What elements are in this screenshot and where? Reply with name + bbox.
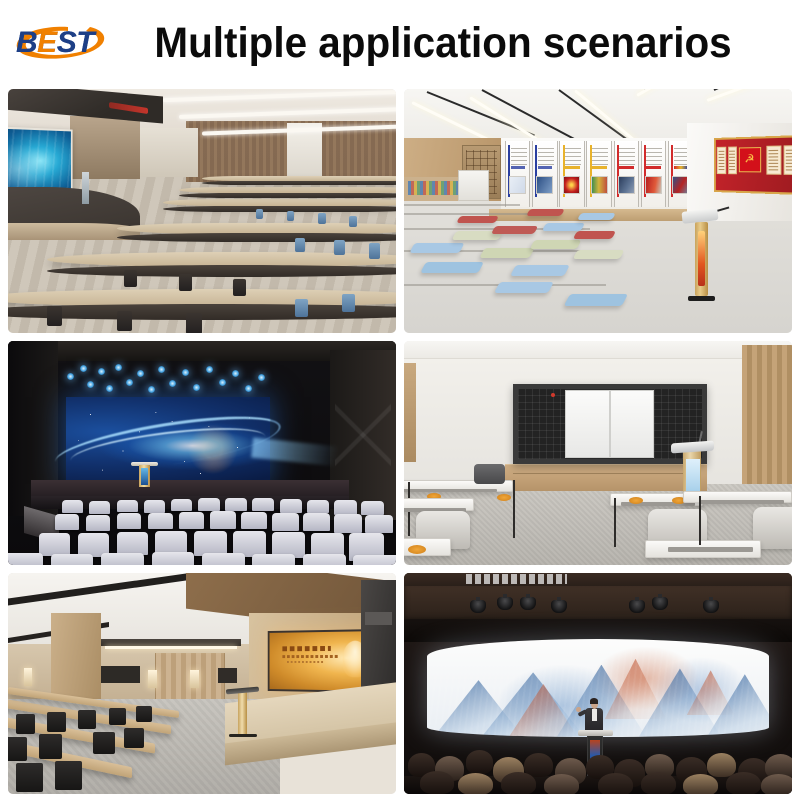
- seat: [47, 306, 62, 326]
- seat: [117, 513, 142, 529]
- seat: [272, 513, 299, 531]
- desk-edge: [699, 500, 784, 504]
- chair: [55, 761, 82, 790]
- panel-rail: [365, 612, 392, 625]
- seat: [8, 553, 43, 565]
- page-title: Multiple application scenarios: [138, 20, 779, 66]
- seat: [369, 243, 380, 259]
- banner-header: BEST Multiple application scenarios: [0, 0, 800, 86]
- seat: [124, 270, 137, 287]
- seat: [55, 514, 80, 530]
- chair: [16, 714, 35, 734]
- scenario-panel-keynote-photo[interactable]: [404, 573, 792, 794]
- seat: [179, 274, 192, 291]
- seat: [210, 511, 236, 528]
- seat: [252, 554, 295, 565]
- seat: [101, 553, 144, 565]
- seat: [334, 240, 345, 255]
- seat: [225, 498, 247, 511]
- ceiling: [404, 341, 792, 359]
- podium: [82, 172, 90, 204]
- floor-mat: [577, 213, 616, 220]
- chair: [8, 737, 27, 761]
- desk-leg: [513, 480, 515, 538]
- panel-photo: [645, 176, 662, 194]
- seat: [179, 512, 205, 529]
- audience-head: [598, 773, 633, 794]
- red-exhibition-wall: [714, 135, 792, 195]
- display-panel: [559, 141, 585, 207]
- wall-sconce: [24, 668, 33, 686]
- lectern-base: [229, 734, 257, 737]
- exhibition-document: [784, 144, 792, 175]
- chair: [93, 732, 115, 754]
- desk-row-front: [202, 181, 396, 185]
- seat: [295, 238, 305, 252]
- best-logo: BEST: [6, 14, 118, 72]
- seat: [117, 532, 148, 555]
- desk-row-front: [117, 233, 396, 242]
- desk-row-front: [47, 265, 396, 277]
- cove-light-strip: [105, 646, 237, 650]
- seat: [233, 279, 246, 296]
- audience-head: [501, 772, 536, 794]
- seat: [186, 313, 202, 333]
- display-panel: [505, 141, 531, 207]
- floor-mat: [420, 262, 484, 273]
- floor-mat: [564, 294, 628, 306]
- audience: [404, 741, 792, 794]
- panel-text-lines: [511, 147, 527, 164]
- seat: [202, 553, 245, 565]
- speaker-hair: [590, 698, 598, 704]
- seat: [171, 499, 192, 511]
- seat: [144, 500, 165, 513]
- dark-band: [404, 619, 792, 641]
- led-video-wall: [66, 397, 270, 484]
- panel-text-lines: [619, 147, 635, 164]
- audience-head: [420, 771, 455, 794]
- seat: [62, 500, 83, 512]
- panel-text-lines: [592, 147, 608, 164]
- audience-head: [683, 774, 718, 794]
- seat: [303, 554, 346, 565]
- exhibition-document: [718, 146, 727, 174]
- wall-sconce: [190, 670, 199, 688]
- scenario-panel-lecture-hall[interactable]: [8, 89, 396, 333]
- screen-subline: [282, 656, 337, 659]
- spotlight-icon: [629, 600, 645, 613]
- seat: [307, 500, 330, 513]
- panel-text-lines: [565, 147, 581, 164]
- panel-heading: [674, 166, 689, 169]
- keynote-photo-image: [404, 573, 792, 794]
- seat: [152, 552, 195, 565]
- chair: [39, 734, 62, 758]
- whiteboard-left: [565, 390, 609, 458]
- floor-mat: [530, 240, 581, 249]
- lectern-base: [688, 296, 716, 302]
- chair: [78, 710, 96, 729]
- lectern-column: [238, 692, 248, 735]
- spotlight-icon: [551, 600, 567, 613]
- seat: [256, 209, 263, 219]
- panel-text-lines: [646, 147, 662, 164]
- desk-leg: [614, 498, 616, 547]
- classroom-image: [404, 341, 792, 565]
- audience-head: [707, 753, 736, 777]
- chair: [136, 706, 152, 723]
- podium-top: [578, 730, 613, 736]
- seat: [334, 514, 362, 533]
- speaker-hand: [576, 707, 581, 712]
- floor-mat: [573, 231, 616, 239]
- audience-head: [544, 774, 579, 794]
- seat: [287, 211, 294, 221]
- desk-edge: [404, 489, 497, 493]
- desk-leg: [699, 496, 701, 545]
- seat: [361, 501, 384, 515]
- party-flag-icon: [739, 146, 761, 172]
- exhibition-document: [767, 145, 782, 175]
- scenario-panel-classroom[interactable]: [404, 341, 792, 565]
- conference-hall-image: [8, 573, 396, 794]
- floor-mat: [409, 243, 465, 253]
- audience-head: [466, 750, 493, 773]
- seat: [280, 499, 303, 512]
- speaker-shirt: [592, 709, 597, 721]
- desk-row: [179, 187, 396, 193]
- floor-mat: [456, 216, 499, 223]
- audience-head: [761, 774, 792, 794]
- left-wood-wall: [70, 116, 140, 179]
- panel-heading: [619, 166, 634, 169]
- panel-heading: [646, 166, 661, 169]
- scenario-panel-conference-hall[interactable]: [8, 573, 396, 794]
- wall-niche: [218, 668, 237, 683]
- whiteboard-right: [610, 390, 654, 458]
- left-wood-trim: [404, 363, 416, 462]
- promo-banner: BEST Multiple application scenarios: [0, 0, 800, 800]
- activity-room-image: [404, 89, 792, 333]
- screen-headline: [282, 646, 331, 652]
- ceiling-cove: [101, 639, 241, 646]
- lecture-hall-image: [8, 89, 396, 333]
- seat: [252, 498, 274, 511]
- screen-caption: [287, 661, 324, 663]
- seat: [318, 213, 326, 224]
- floor-mat: [491, 226, 538, 234]
- desk-row: [163, 199, 396, 206]
- seat: [334, 500, 357, 514]
- seat: [342, 294, 355, 312]
- seat: [148, 513, 174, 530]
- desk-row-front: [163, 206, 396, 212]
- chair: [124, 728, 143, 748]
- ceiling-soffit: [404, 586, 792, 621]
- status-indicator-dot: [551, 393, 555, 397]
- seat: [194, 531, 227, 556]
- chair: [16, 763, 43, 792]
- chair: [109, 708, 126, 726]
- scenario-panel-activity-room[interactable]: [404, 89, 792, 333]
- seat: [295, 299, 308, 317]
- floor-mat: [542, 223, 585, 231]
- seat: [117, 311, 132, 331]
- seat: [89, 501, 110, 514]
- chair: [47, 712, 66, 732]
- panel-photo: [618, 176, 635, 194]
- panel-photo: [563, 176, 580, 194]
- seat: [365, 515, 393, 534]
- seat: [353, 555, 396, 565]
- display-panel: [532, 141, 558, 207]
- lighting-truss: [58, 361, 275, 399]
- floor-mat: [572, 250, 623, 259]
- spotlight-icon: [703, 600, 719, 613]
- wall-sconce: [148, 670, 157, 688]
- logo-accent-letter: E: [37, 26, 57, 59]
- whiteboard: [458, 170, 489, 202]
- lectern-screen: [698, 231, 705, 287]
- logo-wordmark: BEST: [16, 28, 94, 58]
- theatre-image: [8, 341, 396, 565]
- blackboard-left: [518, 389, 566, 460]
- signage-text: [466, 574, 567, 583]
- panel-heading: [511, 166, 526, 169]
- podium-screen: [141, 468, 148, 485]
- seating-area: [8, 498, 396, 565]
- lectern-top: [671, 440, 714, 453]
- audience-head: [726, 772, 761, 794]
- chair: [474, 464, 505, 484]
- audience-head: [458, 773, 493, 794]
- floor-mat: [526, 209, 565, 216]
- floor-mat: [510, 265, 570, 276]
- panel-heading: [565, 166, 580, 169]
- display-panel: [614, 141, 640, 207]
- seat: [117, 500, 138, 512]
- desk-row-front: [179, 193, 396, 198]
- seat: [349, 216, 357, 227]
- floor-mat: [479, 248, 535, 258]
- floor-mat: [494, 282, 554, 293]
- pale-wall: [136, 128, 198, 177]
- scenario-panel-theatre[interactable]: [8, 341, 396, 565]
- panel-photo: [536, 176, 553, 194]
- stage-lectern: [233, 688, 252, 737]
- display-panel: [586, 141, 612, 207]
- seat: [198, 498, 220, 511]
- seat: [303, 513, 330, 531]
- application-scenario-gallery: [8, 89, 792, 794]
- desk-edge: [668, 547, 753, 551]
- panel-heading: [592, 166, 607, 169]
- exhibition-document: [728, 146, 737, 175]
- floor-line: [404, 204, 520, 206]
- smart-lectern: [691, 209, 712, 302]
- panel-photo: [509, 176, 526, 194]
- spotlight-icon: [470, 600, 486, 613]
- podium: [136, 462, 153, 489]
- table-coaster: [629, 497, 643, 504]
- seat: [39, 533, 70, 556]
- panel-photo: [591, 176, 608, 194]
- table-coaster: [408, 545, 426, 554]
- panel-text-lines: [538, 147, 554, 164]
- display-panel: [641, 141, 667, 207]
- audience-head: [641, 772, 676, 794]
- seat: [51, 554, 94, 565]
- seat: [86, 515, 111, 532]
- panel-heading: [538, 166, 553, 169]
- seat: [241, 512, 267, 529]
